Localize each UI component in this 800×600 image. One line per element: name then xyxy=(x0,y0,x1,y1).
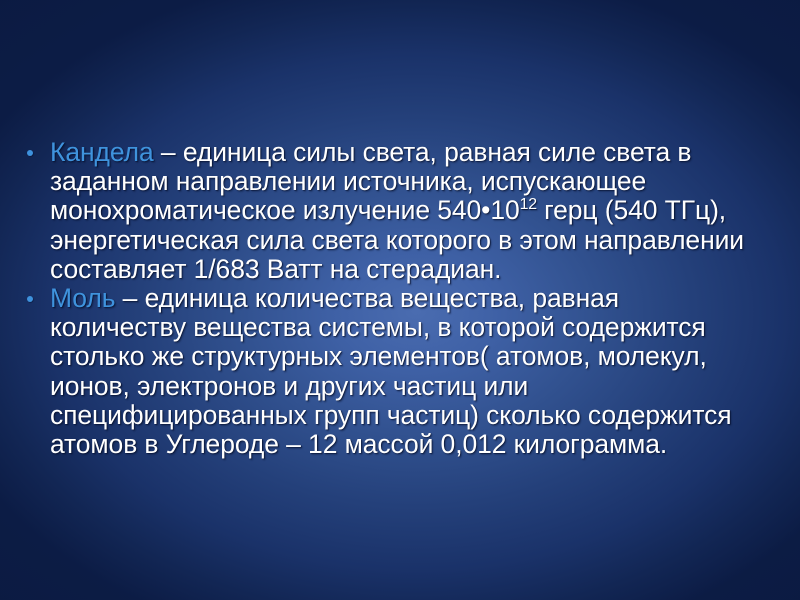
slide-canvas: Кандела – единица силы света, равная сил… xyxy=(0,0,800,600)
definition-text-part-1: единица количества вещества, равная коли… xyxy=(50,283,732,459)
dash-separator: – xyxy=(115,283,144,313)
bullet-point-icon xyxy=(27,296,33,302)
bullet-list: Кандела – единица силы света, равная сил… xyxy=(14,138,754,459)
defined-term-candela: Кандела xyxy=(50,137,154,167)
exponent-12: 12 xyxy=(520,197,537,214)
list-item: Кандела – единица силы света, равная сил… xyxy=(14,138,754,284)
slide-body-text: Кандела – единица силы света, равная сил… xyxy=(14,138,754,459)
dash-separator: – xyxy=(154,137,183,167)
bullet-point-icon xyxy=(27,150,33,156)
list-item: Моль – единица количества вещества, равн… xyxy=(14,284,754,459)
defined-term-mole: Моль xyxy=(50,283,115,313)
